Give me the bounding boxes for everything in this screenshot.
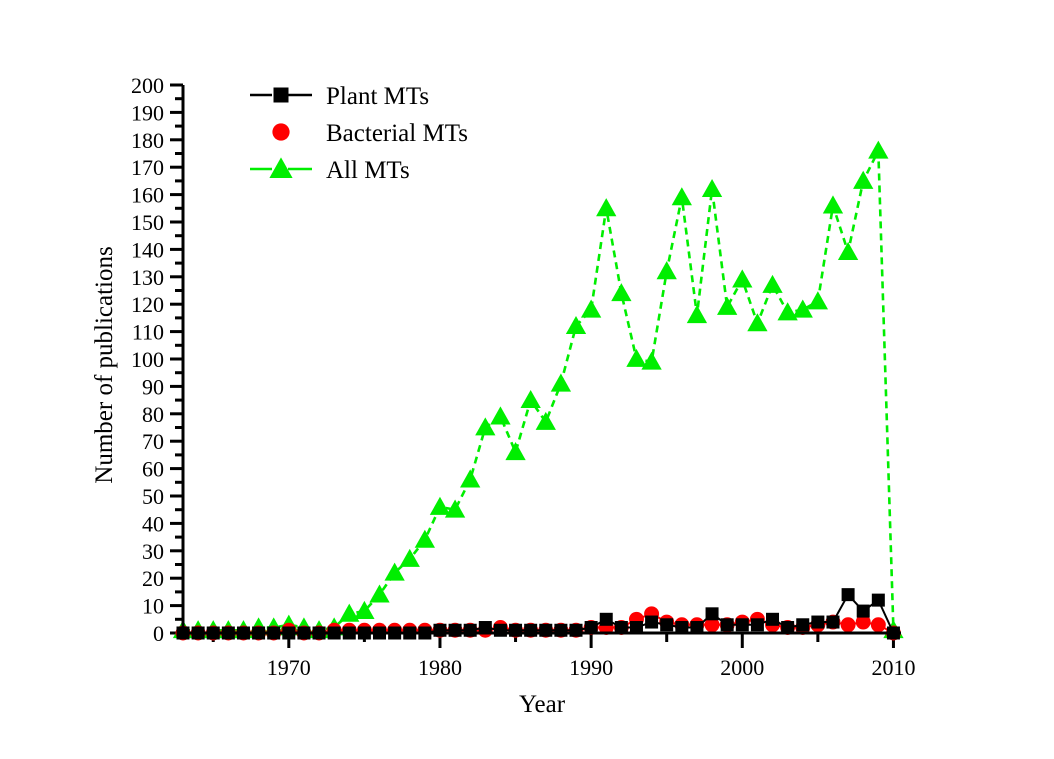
marker-triangle	[626, 349, 646, 367]
marker-triangle	[536, 412, 556, 430]
y-tick-label: 40	[142, 511, 164, 536]
marker-square	[736, 618, 749, 631]
y-axis-ticks: 0102030405060708090100110120130140150160…	[131, 73, 183, 646]
x-tick-label: 2010	[871, 655, 915, 680]
marker-triangle	[687, 305, 707, 323]
legend-item-bacterial-mts[interactable]: Bacterial MTs	[272, 120, 468, 147]
marker-square	[826, 616, 839, 629]
y-tick-label: 160	[131, 183, 164, 208]
y-tick-label: 110	[132, 320, 164, 345]
legend-label: Plant MTs	[326, 83, 429, 110]
marker-triangle	[460, 469, 480, 487]
marker-triangle	[505, 442, 525, 460]
marker-square	[857, 605, 870, 618]
marker-triangle	[657, 261, 677, 279]
marker-triangle	[868, 141, 888, 159]
marker-triangle	[566, 316, 586, 334]
marker-triangle	[717, 297, 737, 315]
y-tick-label: 50	[142, 484, 164, 509]
marker-circle	[272, 123, 289, 140]
y-tick-label: 170	[131, 155, 164, 180]
legend-item-plant-mts[interactable]: Plant MTs	[250, 83, 429, 110]
marker-square	[645, 616, 658, 629]
y-tick-label: 130	[131, 265, 164, 290]
marker-square	[766, 613, 779, 626]
marker-triangle	[369, 584, 389, 602]
marker-triangle	[823, 195, 843, 213]
marker-triangle	[475, 417, 495, 435]
legend-item-all-mts[interactable]: All MTs	[250, 157, 410, 184]
marker-square	[274, 88, 289, 103]
marker-triangle	[762, 275, 782, 293]
legend-label: Bacterial MTs	[326, 120, 468, 147]
y-tick-label: 90	[142, 374, 164, 399]
marker-triangle	[672, 187, 692, 205]
y-tick-label: 20	[142, 566, 164, 591]
x-tick-label: 2000	[720, 655, 764, 680]
marker-square	[706, 607, 719, 620]
marker-triangle	[747, 313, 767, 331]
marker-square	[796, 618, 809, 631]
marker-triangle	[521, 390, 541, 408]
marker-triangle	[430, 497, 450, 515]
marker-triangle	[777, 302, 797, 320]
marker-circle	[871, 617, 886, 632]
marker-square	[872, 594, 885, 607]
marker-square	[554, 624, 567, 637]
y-tick-label: 120	[131, 292, 164, 317]
y-tick-label: 60	[142, 457, 164, 482]
marker-square	[494, 624, 507, 637]
marker-square	[464, 624, 477, 637]
chart-figure: 0102030405060708090100110120130140150160…	[0, 0, 1054, 759]
marker-square	[509, 624, 522, 637]
x-tick-label: 1980	[418, 655, 462, 680]
marker-square	[524, 624, 537, 637]
x-tick-label: 1970	[267, 655, 311, 680]
y-tick-label: 180	[131, 128, 164, 153]
y-tick-label: 200	[131, 73, 164, 98]
marker-square	[751, 618, 764, 631]
y-tick-label: 100	[131, 347, 164, 372]
marker-square	[433, 624, 446, 637]
x-tick-label: 1990	[569, 655, 613, 680]
marker-triangle	[732, 269, 752, 287]
chart-canvas: 0102030405060708090100110120130140150160…	[0, 0, 1054, 759]
marker-square	[449, 624, 462, 637]
marker-triangle	[581, 300, 601, 318]
marker-triangle	[269, 157, 292, 178]
y-tick-label: 10	[142, 594, 164, 619]
y-tick-label: 30	[142, 539, 164, 564]
marker-triangle	[339, 604, 359, 622]
marker-square	[811, 616, 824, 629]
marker-triangle	[641, 352, 661, 370]
legend-label: All MTs	[326, 157, 410, 184]
marker-triangle	[596, 198, 616, 216]
marker-square	[570, 624, 583, 637]
y-tick-label: 150	[131, 210, 164, 235]
y-axis-title: Number of publications	[91, 246, 118, 483]
marker-square	[600, 613, 613, 626]
y-tick-label: 140	[131, 237, 164, 262]
marker-square	[660, 618, 673, 631]
chart-legend: Plant MTsBacterial MTsAll MTs	[250, 83, 468, 184]
marker-triangle	[611, 283, 631, 301]
y-tick-label: 70	[142, 429, 164, 454]
marker-triangle	[415, 530, 435, 548]
marker-triangle	[838, 242, 858, 260]
data-series-group	[173, 141, 904, 641]
y-tick-label: 190	[131, 100, 164, 125]
marker-triangle	[808, 291, 828, 309]
y-tick-label: 80	[142, 402, 164, 427]
y-tick-label: 0	[153, 621, 164, 646]
marker-triangle	[702, 179, 722, 197]
marker-square	[842, 588, 855, 601]
marker-square	[539, 624, 552, 637]
marker-triangle	[490, 406, 510, 424]
marker-triangle	[853, 171, 873, 189]
marker-square	[721, 618, 734, 631]
series-all-mts	[173, 141, 904, 639]
marker-triangle	[551, 374, 571, 392]
marker-circle	[841, 617, 856, 632]
x-axis-title: Year	[519, 691, 566, 718]
series-line	[183, 151, 893, 631]
